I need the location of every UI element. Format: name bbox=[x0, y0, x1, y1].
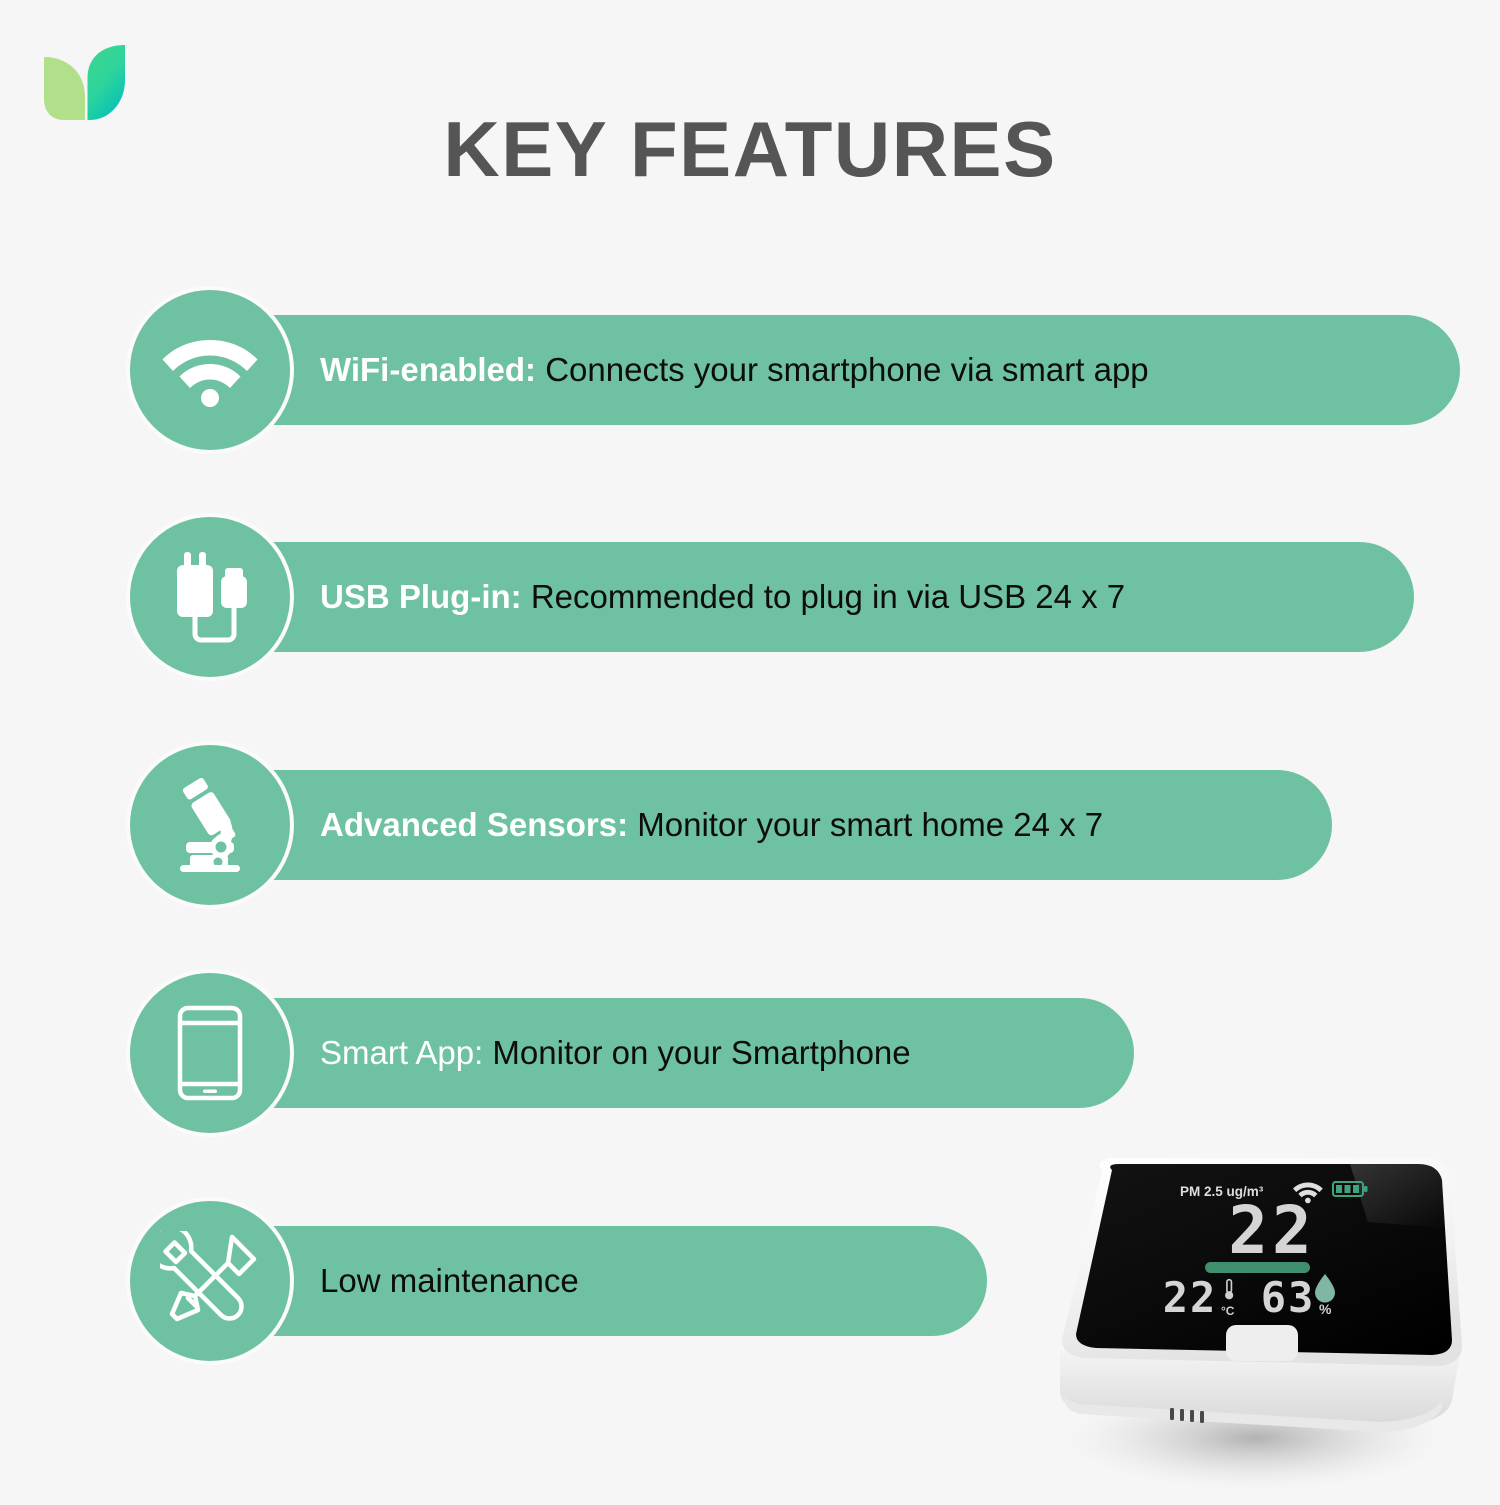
feature-description: Monitor on your Smartphone bbox=[483, 1034, 910, 1071]
feature-icon-circle bbox=[126, 741, 294, 909]
feature-text: Advanced Sensors: Monitor your smart hom… bbox=[320, 807, 1103, 843]
feature-description: Low maintenance bbox=[320, 1262, 579, 1299]
wifi-icon bbox=[162, 332, 258, 408]
tools-icon bbox=[160, 1231, 260, 1331]
feature-icon-circle bbox=[126, 969, 294, 1137]
device-button bbox=[1226, 1325, 1298, 1361]
feature-bar: Low maintenance bbox=[208, 1226, 987, 1336]
feature-label: Advanced Sensors: bbox=[320, 806, 628, 843]
feature-bar: USB Plug-in: Recommended to plug in via … bbox=[208, 542, 1414, 652]
feature-bar: Smart App: Monitor on your Smartphone bbox=[208, 998, 1134, 1108]
air-quality-monitor-device: PM 2.5 ug/m³ 22 22 bbox=[1050, 1150, 1500, 1500]
feature-label: WiFi-enabled: bbox=[320, 351, 536, 388]
feature-icon-circle bbox=[126, 286, 294, 454]
feature-text: Low maintenance bbox=[320, 1263, 579, 1299]
status-bar bbox=[1205, 1262, 1310, 1273]
humidity-value: 63 bbox=[1261, 1273, 1316, 1322]
feature-label: USB Plug-in: bbox=[320, 578, 522, 615]
temperature-unit: °C bbox=[1221, 1304, 1235, 1318]
feature-icon-circle bbox=[126, 513, 294, 681]
feature-description: Connects your smartphone via smart app bbox=[536, 351, 1149, 388]
feature-text: Smart App: Monitor on your Smartphone bbox=[320, 1035, 911, 1071]
microscope-icon bbox=[164, 778, 256, 872]
feature-description: Monitor your smart home 24 x 7 bbox=[628, 806, 1103, 843]
feature-bar: WiFi-enabled: Connects your smartphone v… bbox=[208, 315, 1460, 425]
feature-text: WiFi-enabled: Connects your smartphone v… bbox=[320, 352, 1149, 388]
feature-text: USB Plug-in: Recommended to plug in via … bbox=[320, 579, 1125, 615]
feature-description: Recommended to plug in via USB 24 x 7 bbox=[522, 578, 1126, 615]
pm-value: 22 bbox=[1228, 1192, 1315, 1269]
smartphone-icon bbox=[177, 1005, 243, 1101]
humidity-unit: % bbox=[1319, 1301, 1332, 1317]
feature-bar: Advanced Sensors: Monitor your smart hom… bbox=[208, 770, 1332, 880]
feature-icon-circle bbox=[126, 1197, 294, 1365]
usb-plug-icon bbox=[167, 550, 253, 644]
feature-label: Smart App: bbox=[320, 1034, 483, 1071]
temperature-value: 22 bbox=[1163, 1273, 1218, 1322]
